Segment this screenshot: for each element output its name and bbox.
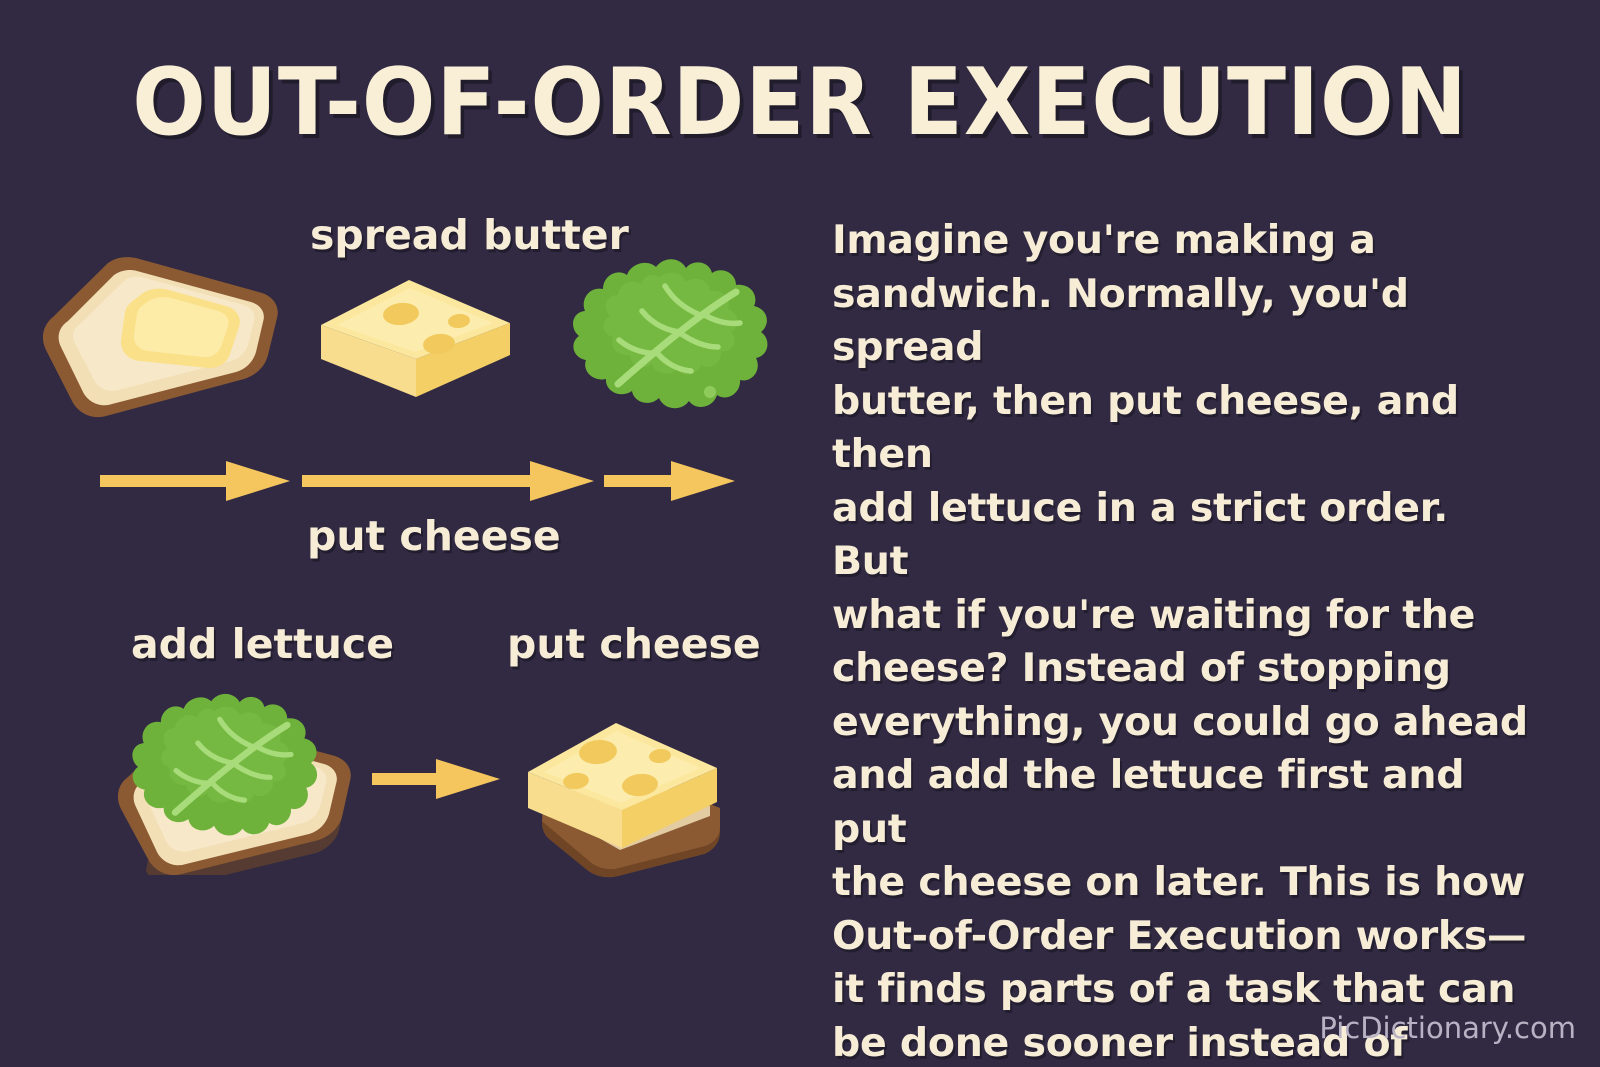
lettuce-leaf-icon	[560, 253, 775, 418]
label-spread-butter: spread butter	[310, 211, 629, 259]
bread-with-cheese-icon	[488, 680, 738, 880]
watermark: PicDictionary.com	[1319, 1011, 1576, 1045]
page-title: OUT-OF-ORDER EXECUTION	[56, 56, 1544, 149]
flow-arrow-1-icon	[100, 459, 290, 503]
flow-arrow-3-icon	[604, 459, 735, 503]
cheese-slab-icon	[313, 263, 518, 423]
label-put-cheese-bottom-row: put cheese	[507, 620, 761, 668]
infographic-poster: OUT-OF-ORDER EXECUTION spread butter put…	[0, 0, 1600, 1067]
explanation-paragraph: Imagine you're making a sandwich. Normal…	[832, 214, 1532, 1067]
bread-with-lettuce-icon	[90, 680, 360, 875]
buttered-bread-icon	[30, 255, 288, 420]
label-add-lettuce: add lettuce	[131, 620, 394, 668]
diagram-illustration: spread butter put cheese add lettuce put…	[0, 185, 800, 915]
flow-arrow-4-icon	[372, 757, 500, 801]
flow-arrow-2-icon	[302, 459, 594, 503]
label-put-cheese-top-row: put cheese	[307, 512, 561, 560]
